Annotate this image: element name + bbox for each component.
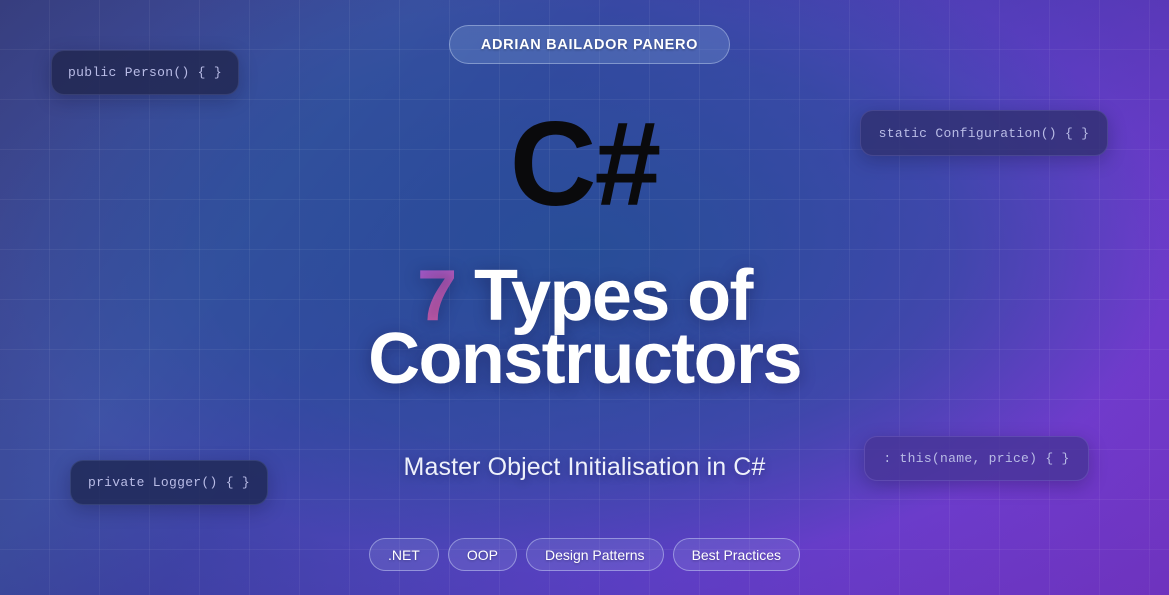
tag-design-patterns[interactable]: Design Patterns (526, 538, 664, 571)
tag-dotnet[interactable]: .NET (369, 538, 439, 571)
tag-label: OOP (467, 547, 498, 563)
tag-list: .NET OOP Design Patterns Best Practices (0, 538, 1169, 571)
headline-line2: Constructors (0, 328, 1169, 391)
author-badge[interactable]: ADRIAN BAILADOR PANERO (449, 25, 730, 64)
code-chip-default-constructor: public Person() { } (51, 50, 239, 95)
author-badge-label: ADRIAN BAILADOR PANERO (481, 37, 698, 53)
tag-label: .NET (388, 547, 420, 563)
tag-oop[interactable]: OOP (448, 538, 517, 571)
tag-label: Best Practices (692, 547, 781, 563)
poster-canvas: ADRIAN BAILADOR PANERO public Person() {… (0, 0, 1169, 595)
page-subtitle: Master Object Initialisation in C# (0, 453, 1169, 482)
page-title: 7 Types of Constructors (0, 265, 1169, 390)
tag-best-practices[interactable]: Best Practices (673, 538, 800, 571)
csharp-logo-text: C# (0, 104, 1169, 224)
code-chip-text: public Person() { } (68, 65, 222, 80)
tag-label: Design Patterns (545, 547, 645, 563)
